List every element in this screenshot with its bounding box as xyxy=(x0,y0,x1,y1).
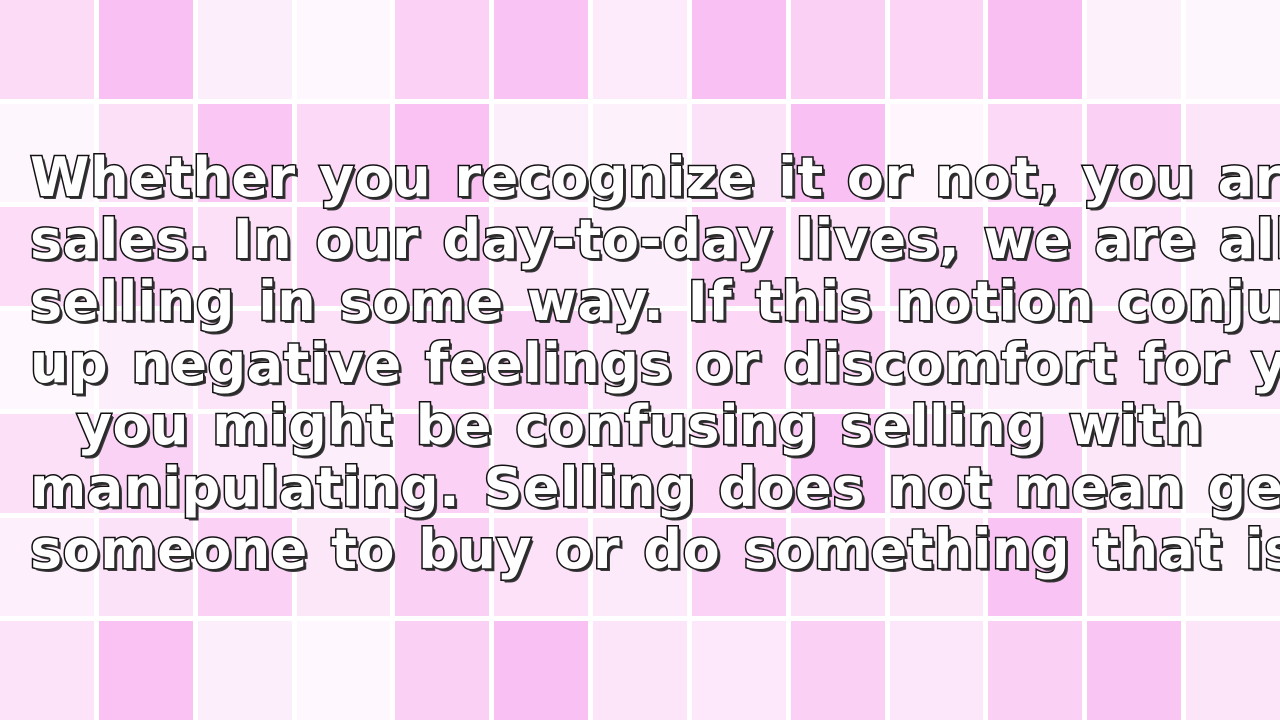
background-tile-5-9 xyxy=(890,518,984,617)
background-tile-5-0 xyxy=(0,518,94,617)
background-tile-4-4 xyxy=(395,414,489,513)
background-tile-3-6 xyxy=(593,311,687,410)
background-tile-4-5 xyxy=(494,414,588,513)
background-tile-3-5 xyxy=(494,311,588,410)
background-tile-0-9 xyxy=(890,0,984,99)
background-tile-2-9 xyxy=(890,207,984,306)
background-tile-5-4 xyxy=(395,518,489,617)
background-tile-3-10 xyxy=(988,311,1082,410)
background-tile-4-1 xyxy=(99,414,193,513)
background-tile-0-6 xyxy=(593,0,687,99)
background-tile-1-4 xyxy=(395,104,489,203)
background-tile-1-12 xyxy=(1186,104,1280,203)
background-tile-0-8 xyxy=(791,0,885,99)
background-tile-0-11 xyxy=(1087,0,1181,99)
background-tile-3-8 xyxy=(791,311,885,410)
background-tile-4-8 xyxy=(791,414,885,513)
background-tile-6-3 xyxy=(297,621,391,720)
background-tile-2-11 xyxy=(1087,207,1181,306)
background-tile-2-12 xyxy=(1186,207,1280,306)
background-tile-4-11 xyxy=(1087,414,1181,513)
background-tile-4-9 xyxy=(890,414,984,513)
background-tile-4-0 xyxy=(0,414,94,513)
background-tile-2-2 xyxy=(198,207,292,306)
background-tile-2-6 xyxy=(593,207,687,306)
background-tile-2-5 xyxy=(494,207,588,306)
background-tile-1-9 xyxy=(890,104,984,203)
background-tile-4-2 xyxy=(198,414,292,513)
quote-card: Whether you recognize it or not, you are… xyxy=(0,0,1280,720)
background-tile-1-6 xyxy=(593,104,687,203)
background-tile-1-3 xyxy=(297,104,391,203)
background-tile-5-10 xyxy=(988,518,1082,617)
background-tile-1-1 xyxy=(99,104,193,203)
background-tile-6-12 xyxy=(1186,621,1280,720)
background-tile-5-8 xyxy=(791,518,885,617)
background-tile-6-7 xyxy=(692,621,786,720)
background-tile-0-4 xyxy=(395,0,489,99)
background-tile-2-0 xyxy=(0,207,94,306)
background-tile-6-0 xyxy=(0,621,94,720)
background-tile-1-5 xyxy=(494,104,588,203)
background-tile-6-10 xyxy=(988,621,1082,720)
background-tile-0-7 xyxy=(692,0,786,99)
background-tile-5-5 xyxy=(494,518,588,617)
background-tile-1-11 xyxy=(1087,104,1181,203)
background-tile-6-9 xyxy=(890,621,984,720)
background-tile-4-7 xyxy=(692,414,786,513)
background-tile-5-7 xyxy=(692,518,786,617)
background-tile-2-1 xyxy=(99,207,193,306)
background-tile-6-6 xyxy=(593,621,687,720)
background-tile-4-12 xyxy=(1186,414,1280,513)
background-tile-1-0 xyxy=(0,104,94,203)
background-tile-6-5 xyxy=(494,621,588,720)
background-tile-3-3 xyxy=(297,311,391,410)
background-tile-5-12 xyxy=(1186,518,1280,617)
background-tile-5-11 xyxy=(1087,518,1181,617)
background-tile-6-8 xyxy=(791,621,885,720)
background-tile-3-9 xyxy=(890,311,984,410)
background-tile-6-1 xyxy=(99,621,193,720)
background-tile-4-6 xyxy=(593,414,687,513)
background-tile-3-0 xyxy=(0,311,94,410)
background-tile-3-11 xyxy=(1087,311,1181,410)
background-tile-0-10 xyxy=(988,0,1082,99)
background-tile-5-6 xyxy=(593,518,687,617)
background-tile-1-2 xyxy=(198,104,292,203)
background-tile-0-5 xyxy=(494,0,588,99)
background-tile-1-7 xyxy=(692,104,786,203)
background-tile-2-4 xyxy=(395,207,489,306)
background-tile-0-0 xyxy=(0,0,94,99)
checkered-tile-background xyxy=(0,0,1280,720)
background-tile-4-10 xyxy=(988,414,1082,513)
background-tile-0-1 xyxy=(99,0,193,99)
background-tile-6-2 xyxy=(198,621,292,720)
background-tile-6-4 xyxy=(395,621,489,720)
background-tile-3-12 xyxy=(1186,311,1280,410)
background-tile-5-2 xyxy=(198,518,292,617)
background-tile-0-2 xyxy=(198,0,292,99)
background-tile-2-10 xyxy=(988,207,1082,306)
background-tile-5-3 xyxy=(297,518,391,617)
background-tile-5-1 xyxy=(99,518,193,617)
background-tile-0-12 xyxy=(1186,0,1280,99)
background-tile-1-10 xyxy=(988,104,1082,203)
background-tile-2-7 xyxy=(692,207,786,306)
background-tile-4-3 xyxy=(297,414,391,513)
background-tile-1-8 xyxy=(791,104,885,203)
background-tile-3-7 xyxy=(692,311,786,410)
background-tile-3-1 xyxy=(99,311,193,410)
background-tile-6-11 xyxy=(1087,621,1181,720)
background-tile-3-4 xyxy=(395,311,489,410)
background-tile-0-3 xyxy=(297,0,391,99)
background-tile-3-2 xyxy=(198,311,292,410)
background-tile-2-8 xyxy=(791,207,885,306)
background-tile-2-3 xyxy=(297,207,391,306)
